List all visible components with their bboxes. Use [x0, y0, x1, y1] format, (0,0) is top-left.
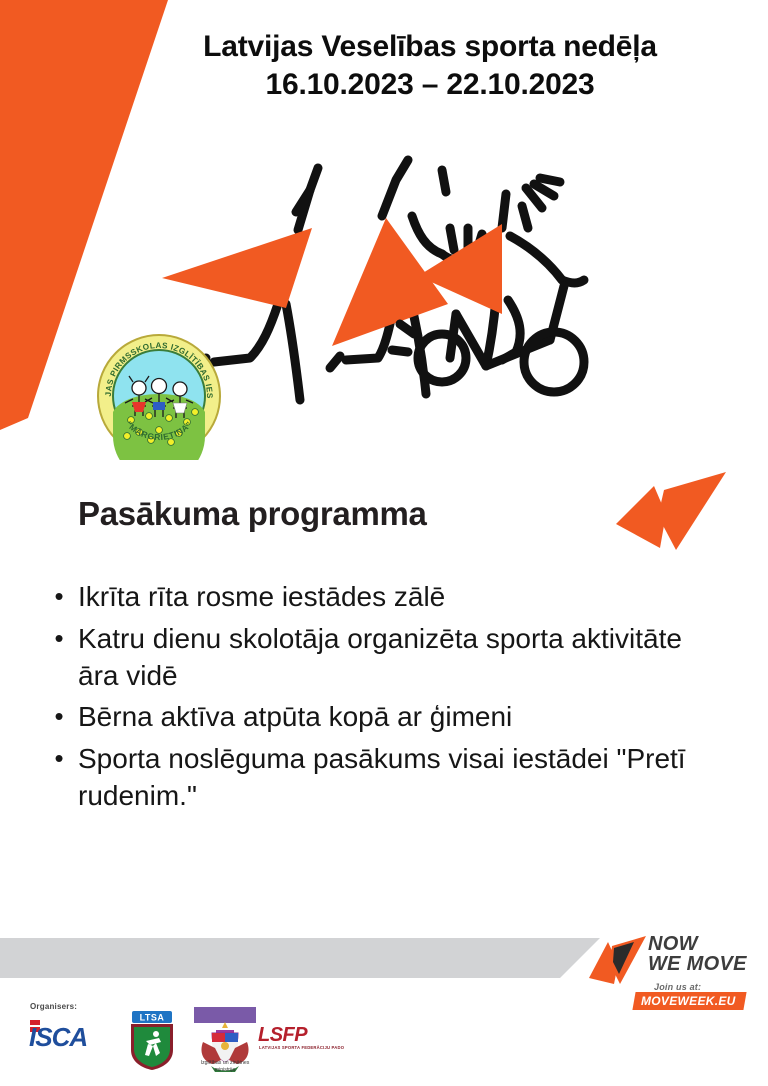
bullet-marker-icon: • [40, 740, 78, 778]
now-we-move-wordmark: NOW WE MOVE [648, 934, 747, 975]
kindergarten-emblem: LIEPĀJAS PIRMSSKOLAS IZGLĪTĪBAS IESTĀDE … [95, 332, 223, 460]
organiser-logo-strip: Organisers: ISCA LTSA [16, 1002, 346, 1078]
lsfp-subtitle: LATVIJAS SPORTA FEDERĀCIJU PADOME [259, 1045, 344, 1050]
programme-list: • Ikrīta rīta rosme iestādes zālē • Katr… [40, 578, 730, 818]
poster-canvas: Latvijas Veselības sporta nedēļa 16.10.2… [0, 0, 768, 1086]
moveweek-url-text: MOVEWEEK.EU [641, 994, 736, 1008]
headline-line-2: 16.10.2023 – 22.10.2023 [110, 66, 750, 104]
list-item-text: Katru dienu skolotāja organizēta sporta … [78, 620, 730, 694]
organisers-label: Organisers: [30, 1002, 77, 1011]
ltsa-logo: LTSA [126, 1010, 178, 1072]
ministry-caption-line-2: ministrija [215, 1067, 235, 1073]
lsfp-wordmark: LSFP [258, 1024, 308, 1046]
list-item: • Bērna aktīva atpūta kopā ar ģimeni [40, 698, 730, 736]
list-item-text: Ikrīta rīta rosme iestādes zālē [78, 578, 730, 615]
bullet-marker-icon: • [40, 620, 78, 658]
orange-body-left [162, 228, 312, 308]
bullet-marker-icon: • [40, 698, 78, 736]
ministry-caption: Izglītības un zinātnes ministrija [188, 1060, 262, 1074]
list-item: • Katru dienu skolotāja organizēta sport… [40, 620, 730, 694]
now-we-move-mark-icon [588, 934, 650, 986]
nwm-line-2: WE MOVE [648, 954, 747, 974]
now-we-move-arrow-decoration [614, 466, 734, 556]
programme-heading: Pasākuma programma [78, 495, 427, 533]
moveweek-url-badge[interactable]: MOVEWEEK.EU [632, 992, 746, 1010]
ltsa-wordmark: LTSA [140, 1013, 165, 1023]
list-item-text: Sporta noslēguma pasākums visai iestādei… [78, 740, 730, 814]
footer-grey-band [0, 938, 640, 978]
page-title: Latvijas Veselības sporta nedēļa 16.10.2… [110, 28, 750, 104]
nwm-line-1: NOW [648, 934, 747, 954]
bullet-marker-icon: • [40, 578, 78, 616]
lsfp-logo: LSFP LATVIJAS SPORTA FEDERĀCIJU PADOME [256, 1022, 344, 1052]
list-item-text: Bērna aktīva atpūta kopā ar ģimeni [78, 698, 730, 735]
list-item: • Ikrīta rīta rosme iestādes zālē [40, 578, 730, 616]
list-item: • Sporta noslēguma pasākums visai iestād… [40, 740, 730, 814]
isca-logo: ISCA [28, 1016, 120, 1050]
join-us-label: Join us at: [654, 982, 701, 992]
ministry-caption-line-1: Izglītības un zinātnes [201, 1060, 250, 1066]
now-we-move-logo: NOW WE MOVE Join us at: MOVEWEEK.EU [588, 930, 763, 1012]
isca-wordmark: ISCA [29, 1022, 87, 1050]
headline-line-1: Latvijas Veselības sporta nedēļa [203, 30, 657, 63]
